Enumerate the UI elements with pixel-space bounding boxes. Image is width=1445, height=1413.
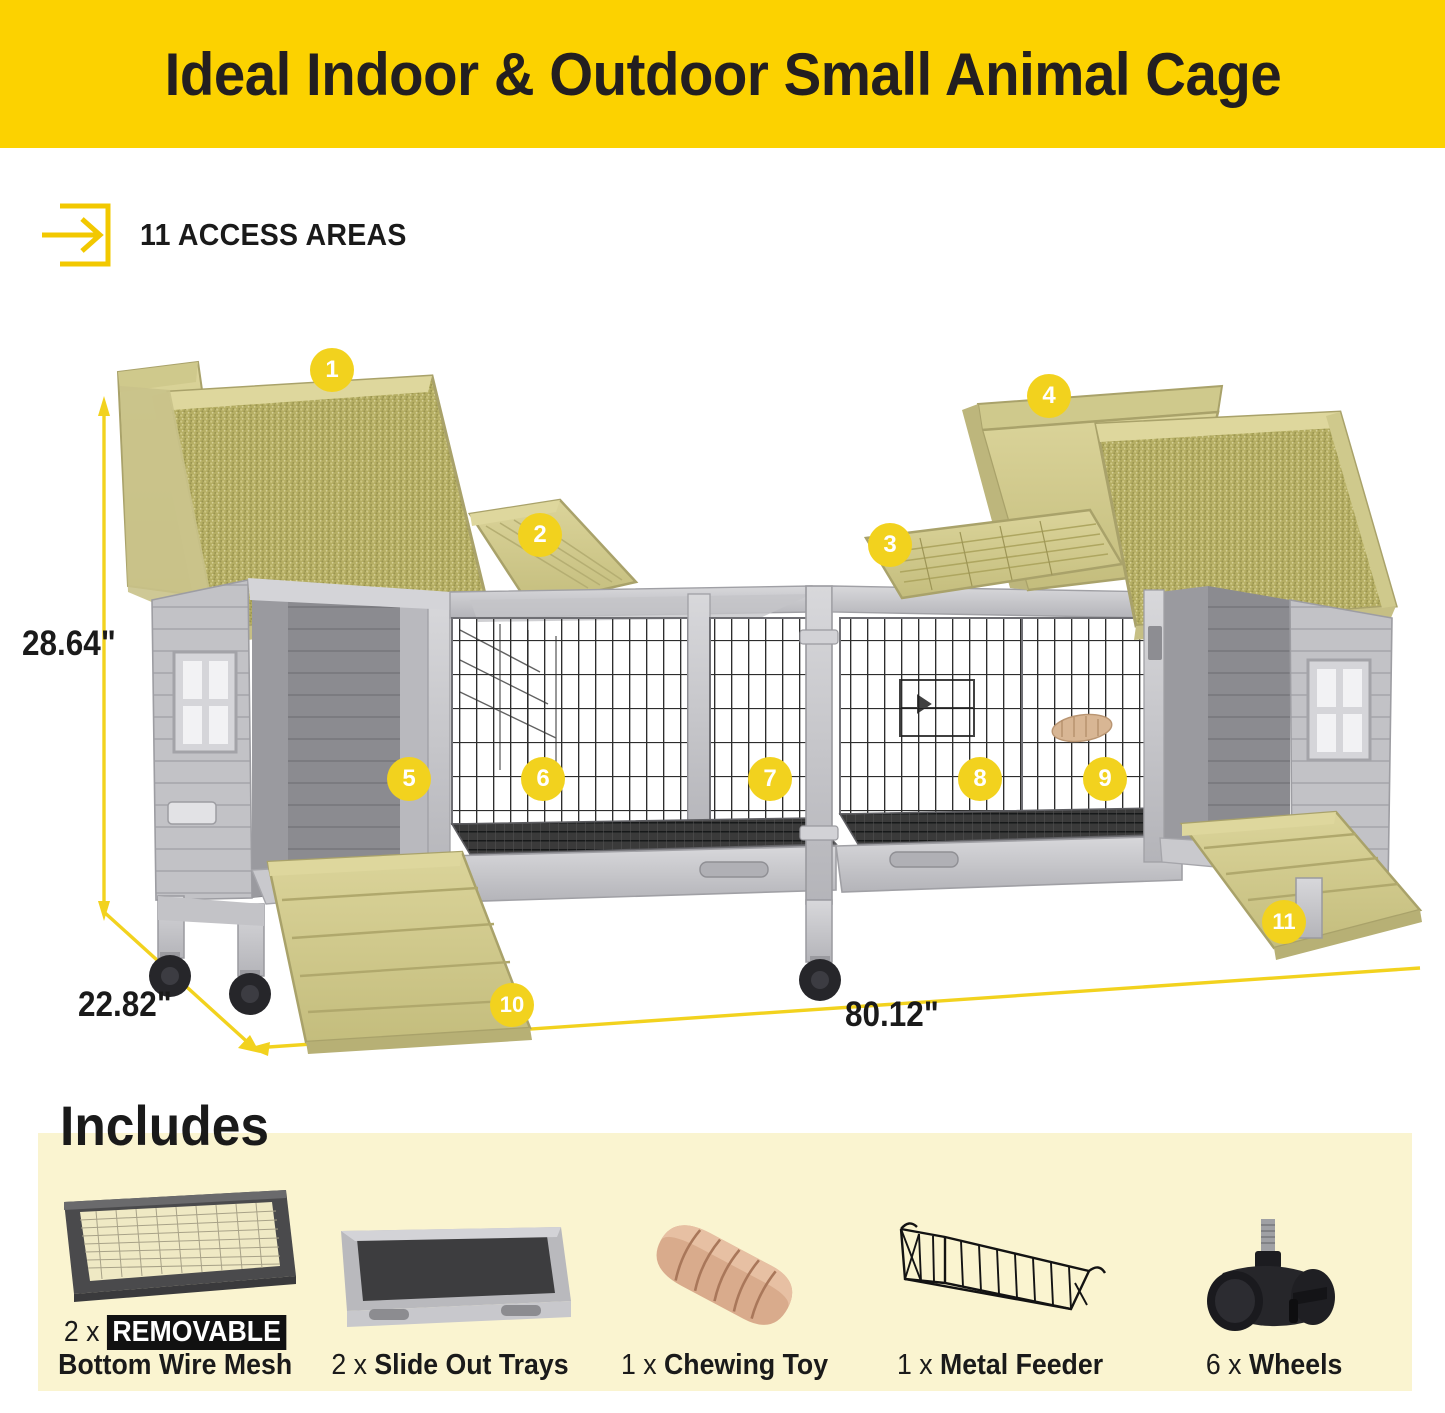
slide-out-tray-icon <box>325 1209 575 1341</box>
callout-badge-left-top-lid[interactable]: 2 <box>518 513 562 557</box>
includes-qty: 2 x <box>332 1349 368 1381</box>
dimension-depth-label: 22.82" <box>78 985 172 1025</box>
callout-badge-left-run-front-door[interactable]: 6 <box>521 757 565 801</box>
callout-badge-left-ramp[interactable]: 10 <box>490 983 534 1027</box>
includes-item-wheels: 6 x Wheels <box>1137 1155 1412 1385</box>
includes-caption: 1 x Metal Feeder <box>897 1349 1103 1381</box>
includes-qty: 1 x <box>897 1349 933 1381</box>
includes-label: Wheels <box>1249 1349 1342 1381</box>
callout-badge-right-roof-panel[interactable]: 4 <box>1027 374 1071 418</box>
includes-qty: 1 x <box>621 1349 657 1381</box>
hutch-drawing <box>0 300 1445 1090</box>
access-areas-label: 11 ACCESS AREAS <box>140 217 407 253</box>
includes-title: Includes <box>60 1093 269 1158</box>
callout-badge-right-run-front-door[interactable]: 8 <box>958 757 1002 801</box>
wire-mesh-panel-icon <box>50 1176 300 1308</box>
callout-badge-right-run-side-door[interactable]: 9 <box>1083 757 1127 801</box>
includes-qty: 2 x <box>64 1316 100 1348</box>
includes-caption: 6 x Wheels <box>1206 1349 1342 1381</box>
includes-caption: 2 x REMOVABLE Bottom Wire Mesh <box>58 1316 292 1381</box>
includes-label: Chewing Toy <box>664 1349 828 1381</box>
header-banner: Ideal Indoor & Outdoor Small Animal Cage <box>0 0 1445 148</box>
chewing-toy-icon <box>600 1209 850 1341</box>
includes-item-slide-out-trays: 2 x Slide Out Trays <box>313 1155 588 1385</box>
callout-badge-right-wire-lid[interactable]: 3 <box>868 523 912 567</box>
includes-panel: Includes <box>38 1133 1412 1391</box>
callout-badge-left-roof-panel[interactable]: 1 <box>310 348 354 392</box>
includes-highlight: REMOVABLE <box>107 1315 287 1350</box>
access-areas-row: 11 ACCESS AREAS <box>40 196 430 274</box>
includes-item-metal-feeder: 1 x Metal Feeder <box>862 1155 1137 1385</box>
includes-item-chewing-toy: 1 x Chewing Toy <box>588 1155 863 1385</box>
includes-label: Bottom Wire Mesh <box>58 1349 292 1381</box>
callout-badge-right-ramp[interactable]: 11 <box>1262 900 1306 944</box>
includes-label: Slide Out Trays <box>375 1349 569 1381</box>
includes-label: Metal Feeder <box>940 1349 1103 1381</box>
product-illustration <box>0 300 1445 1090</box>
includes-caption: 2 x Slide Out Trays <box>332 1349 569 1381</box>
dimension-height-label: 28.64" <box>22 624 116 664</box>
dimension-width-label: 80.12" <box>845 995 939 1035</box>
right-run <box>832 586 1182 892</box>
includes-caption: 1 x Chewing Toy <box>621 1349 828 1381</box>
metal-feeder-icon <box>875 1209 1125 1341</box>
includes-grid: 2 x REMOVABLE Bottom Wire Mesh 2 x Slide <box>38 1155 1412 1385</box>
page-title: Ideal Indoor & Outdoor Small Animal Cage <box>164 40 1281 109</box>
caster-wheel-icon <box>1165 1209 1385 1341</box>
includes-item-bottom-wire-mesh: 2 x REMOVABLE Bottom Wire Mesh <box>38 1155 313 1385</box>
includes-qty: 6 x <box>1206 1349 1242 1381</box>
callout-badge-left-house-door[interactable]: 5 <box>387 757 431 801</box>
callout-badge-left-run-side-door[interactable]: 7 <box>748 757 792 801</box>
enter-arrow-icon <box>40 196 118 274</box>
